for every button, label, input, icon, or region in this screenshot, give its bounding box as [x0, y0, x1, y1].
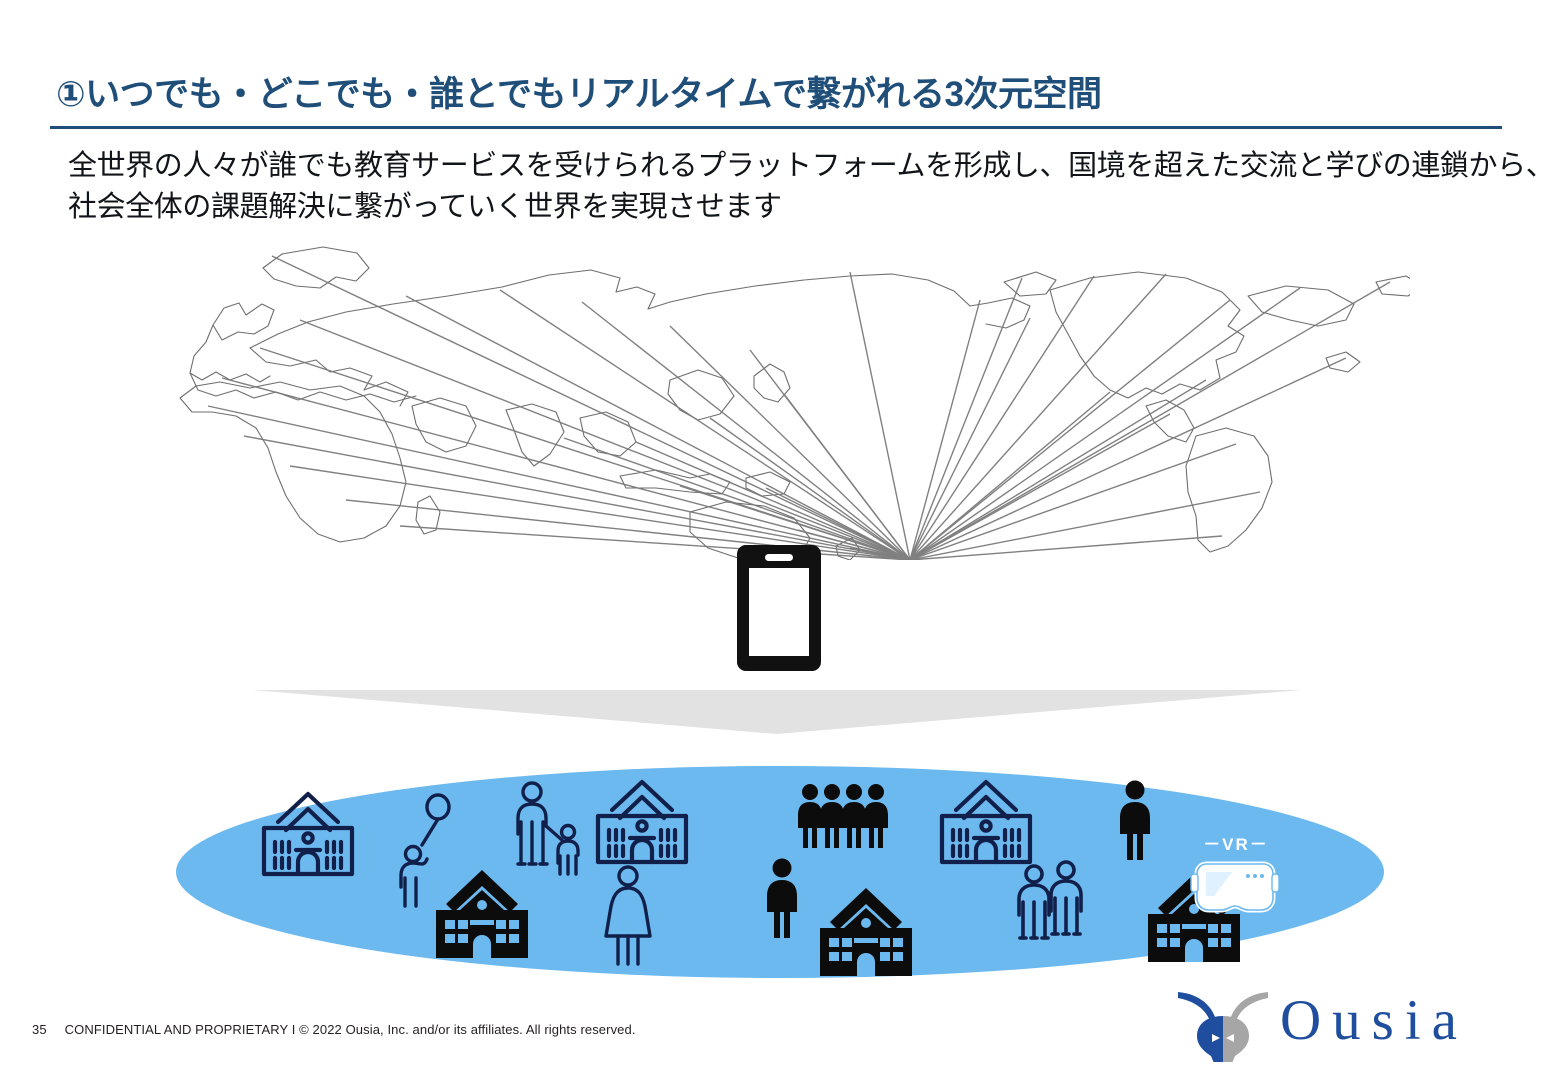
footer: 35CONFIDENTIAL AND PROPRIETARY I © 2022 …	[32, 1022, 636, 1037]
connection-rays	[208, 256, 1390, 560]
title-divider	[50, 126, 1502, 129]
lead-line-1: 全世界の人々が誰でも教育サービスを受けられるプラットフォームを形成し、国境を超え…	[68, 146, 1508, 187]
downward-chevron	[252, 690, 1302, 738]
lead-line-2: 社会全体の課題解決に繋がっていく世界を実現させます	[68, 187, 1508, 228]
copyright-text: CONFIDENTIAL AND PROPRIETARY I © 2022 Ou…	[65, 1022, 636, 1037]
vr-label: －VR－	[1203, 835, 1269, 854]
slide-canvas: ①いつでも・どこでも・誰とでもリアルタイムで繋がれる3次元空間 全世界の人々が誰…	[0, 0, 1556, 1073]
vr-headset: －VR－	[1191, 835, 1279, 910]
bull-head-icon	[1178, 992, 1268, 1062]
smartphone-icon	[735, 543, 823, 673]
page-number: 35	[32, 1022, 47, 1037]
logo-wordmark: Ousia	[1280, 992, 1468, 1049]
page-title: ①いつでも・どこでも・誰とでもリアルタイムで繋がれる3次元空間	[56, 66, 1101, 117]
blue-ellipse-stage: －VR－	[176, 766, 1384, 979]
lead-paragraph: 全世界の人々が誰でも教育サービスを受けられるプラットフォームを形成し、国境を超え…	[68, 146, 1508, 228]
world-map-diagram	[150, 230, 1410, 560]
world-map-outline	[180, 247, 1410, 560]
